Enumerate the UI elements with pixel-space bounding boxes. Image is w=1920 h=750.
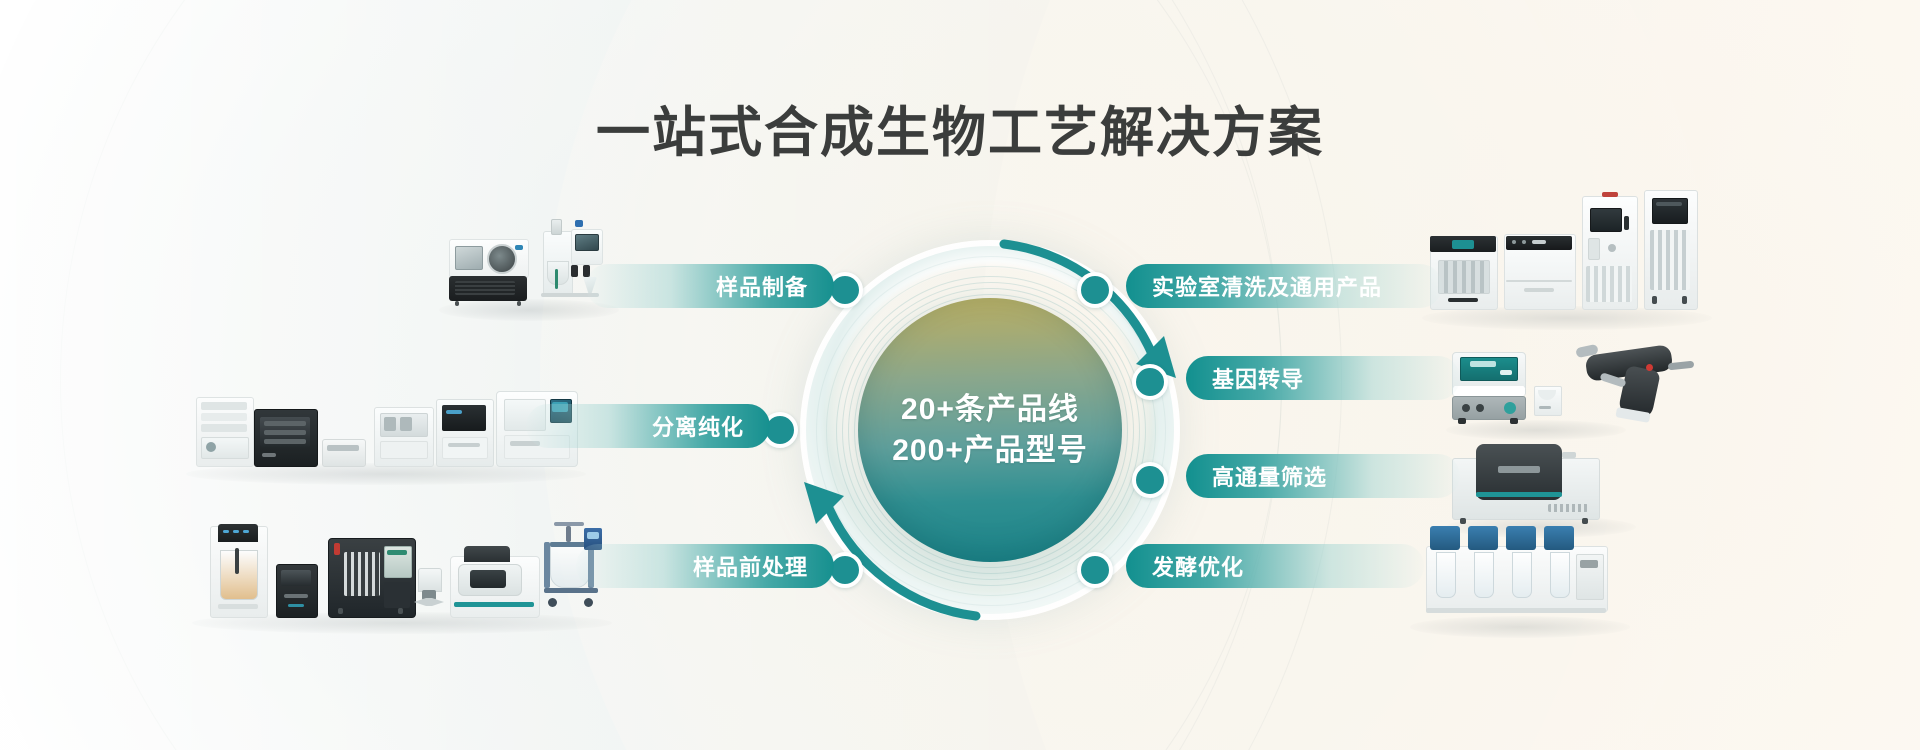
node-dot-right-4[interactable]: [1077, 552, 1113, 588]
equipment-left-sample-preparation: [445, 215, 605, 310]
node-dot-right-1[interactable]: [1077, 272, 1113, 308]
pill-left-sample-pretreatment[interactable]: 样品前处理: [576, 544, 834, 588]
node-dot-right-3[interactable]: [1132, 462, 1168, 498]
pill-right-label-4: 发酵优化: [1152, 550, 1244, 582]
pill-left-separation-purification[interactable]: 分离纯化: [526, 404, 770, 448]
node-dot-right-2[interactable]: [1132, 364, 1168, 400]
pill-left-label-3: 样品前处理: [693, 550, 808, 582]
equipment-left-sample-pretreatment: [200, 520, 600, 625]
pill-right-gene-transduction[interactable]: 基因转导: [1186, 356, 1460, 400]
equipment-right-high-throughput-screening: [1452, 440, 1622, 530]
pill-right-label-3: 高通量筛选: [1212, 460, 1327, 492]
equipment-right-fermentation-optimization: [1418, 524, 1618, 630]
pill-right-lab-cleaning[interactable]: 实验室清洗及通用产品: [1126, 264, 1442, 308]
pill-right-fermentation-optimization[interactable]: 发酵优化: [1126, 544, 1424, 588]
equipment-right-lab-cleaning: [1430, 188, 1700, 320]
pill-right-label-2: 基因转导: [1212, 362, 1304, 394]
equipment-left-separation-purification: [196, 385, 576, 475]
infographic-stage: 一站式合成生物工艺解决方案: [0, 0, 1920, 750]
pill-left-label-2: 分离纯化: [652, 410, 744, 442]
pill-left-sample-preparation[interactable]: 样品制备: [586, 264, 834, 308]
pill-right-label-1: 实验室清洗及通用产品: [1152, 270, 1382, 302]
pill-left-label-1: 样品制备: [716, 270, 808, 302]
equipment-right-gene-transduction: [1452, 342, 1702, 434]
page-title: 一站式合成生物工艺解决方案: [0, 88, 1920, 167]
pill-right-high-throughput-screening[interactable]: 高通量筛选: [1186, 454, 1460, 498]
